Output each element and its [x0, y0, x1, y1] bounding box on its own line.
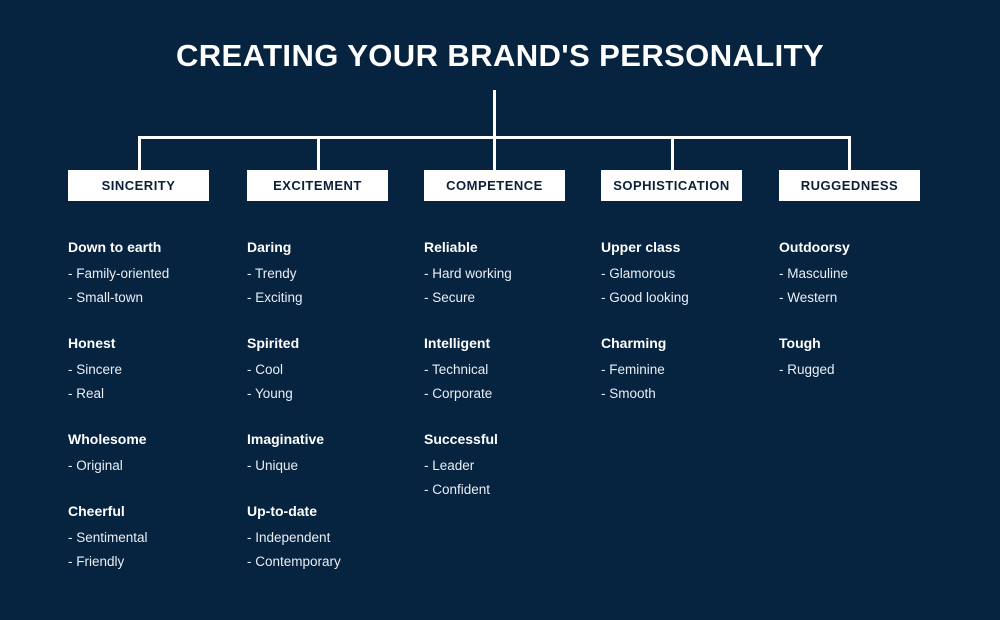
trait-item: - Family-oriented	[68, 262, 243, 286]
trait-group-title: Outdoorsy	[779, 237, 954, 257]
trait-group: Honest - Sincere - Real	[68, 333, 243, 406]
trait-item: - Hard working	[424, 262, 599, 286]
trait-group-title: Wholesome	[68, 429, 243, 449]
trait-item: - Rugged	[779, 358, 954, 382]
trait-item: - Secure	[424, 286, 599, 310]
trait-item: - Western	[779, 286, 954, 310]
category-column-competence: COMPETENCE Reliable - Hard working - Sec…	[424, 170, 599, 525]
connector-drop-sophistication	[671, 136, 674, 170]
page-title: CREATING YOUR BRAND'S PERSONALITY	[0, 38, 1000, 74]
trait-item: - Real	[68, 382, 243, 406]
trait-item: - Independent	[247, 526, 422, 550]
trait-item: - Friendly	[68, 550, 243, 574]
trait-group-title: Daring	[247, 237, 422, 257]
trait-group: Tough - Rugged	[779, 333, 954, 382]
category-header-sincerity[interactable]: SINCERITY	[68, 170, 209, 201]
connector-drop-ruggedness	[848, 136, 851, 170]
trait-group-title: Up-to-date	[247, 501, 422, 521]
trait-group-title: Successful	[424, 429, 599, 449]
trait-group: Wholesome - Original	[68, 429, 243, 478]
category-columns: SINCERITY Down to earth - Family-oriente…	[0, 170, 1000, 620]
trait-group-list: Down to earth - Family-oriented - Small-…	[68, 237, 243, 574]
trait-group: Successful - Leader - Confident	[424, 429, 599, 502]
trait-group: Up-to-date - Independent - Contemporary	[247, 501, 422, 574]
category-header-ruggedness[interactable]: RUGGEDNESS	[779, 170, 920, 201]
trait-group-title: Upper class	[601, 237, 776, 257]
trait-group-list: Reliable - Hard working - Secure Intelli…	[424, 237, 599, 502]
trait-group-title: Reliable	[424, 237, 599, 257]
trait-group-title: Tough	[779, 333, 954, 353]
trait-item: - Young	[247, 382, 422, 406]
connector-drop-competence	[493, 136, 496, 170]
trait-group: Down to earth - Family-oriented - Small-…	[68, 237, 243, 310]
trait-group-title: Charming	[601, 333, 776, 353]
trait-group-list: Outdoorsy - Masculine - Western Tough - …	[779, 237, 954, 382]
category-header-sophistication[interactable]: SOPHISTICATION	[601, 170, 742, 201]
connector-drop-excitement	[317, 136, 320, 170]
connector-drop-sincerity	[138, 136, 141, 170]
trait-item: - Sentimental	[68, 526, 243, 550]
trait-item: - Technical	[424, 358, 599, 382]
category-header-excitement[interactable]: EXCITEMENT	[247, 170, 388, 201]
trait-item: - Unique	[247, 454, 422, 478]
trait-item: - Glamorous	[601, 262, 776, 286]
trait-group-title: Spirited	[247, 333, 422, 353]
category-column-ruggedness: RUGGEDNESS Outdoorsy - Masculine - Weste…	[779, 170, 954, 405]
trait-item: - Confident	[424, 478, 599, 502]
trait-group-title: Intelligent	[424, 333, 599, 353]
connector-horizontal-bar	[138, 136, 851, 139]
trait-group-title: Cheerful	[68, 501, 243, 521]
trait-group: Spirited - Cool - Young	[247, 333, 422, 406]
trait-group: Charming - Feminine - Smooth	[601, 333, 776, 406]
category-column-excitement: EXCITEMENT Daring - Trendy - Exciting Sp…	[247, 170, 422, 597]
trait-item: - Sincere	[68, 358, 243, 382]
trait-group: Daring - Trendy - Exciting	[247, 237, 422, 310]
trait-item: - Corporate	[424, 382, 599, 406]
trait-item: - Good looking	[601, 286, 776, 310]
category-column-sophistication: SOPHISTICATION Upper class - Glamorous -…	[601, 170, 776, 429]
category-column-sincerity: SINCERITY Down to earth - Family-oriente…	[68, 170, 243, 597]
trait-group: Reliable - Hard working - Secure	[424, 237, 599, 310]
trait-item: - Original	[68, 454, 243, 478]
trait-item: - Small-town	[68, 286, 243, 310]
trait-item: - Masculine	[779, 262, 954, 286]
trait-item: - Leader	[424, 454, 599, 478]
trait-group-list: Upper class - Glamorous - Good looking C…	[601, 237, 776, 406]
brand-personality-diagram: CREATING YOUR BRAND'S PERSONALITY SINCER…	[0, 0, 1000, 620]
trait-group: Upper class - Glamorous - Good looking	[601, 237, 776, 310]
trait-item: - Trendy	[247, 262, 422, 286]
trait-item: - Feminine	[601, 358, 776, 382]
trait-item: - Contemporary	[247, 550, 422, 574]
trait-item: - Exciting	[247, 286, 422, 310]
connector-stem-vertical	[493, 90, 496, 138]
trait-group-title: Honest	[68, 333, 243, 353]
trait-item: - Cool	[247, 358, 422, 382]
trait-group-title: Imaginative	[247, 429, 422, 449]
trait-group-list: Daring - Trendy - Exciting Spirited - Co…	[247, 237, 422, 574]
trait-group: Imaginative - Unique	[247, 429, 422, 478]
trait-group: Cheerful - Sentimental - Friendly	[68, 501, 243, 574]
trait-group-title: Down to earth	[68, 237, 243, 257]
category-header-competence[interactable]: COMPETENCE	[424, 170, 565, 201]
trait-group: Intelligent - Technical - Corporate	[424, 333, 599, 406]
trait-group: Outdoorsy - Masculine - Western	[779, 237, 954, 310]
trait-item: - Smooth	[601, 382, 776, 406]
